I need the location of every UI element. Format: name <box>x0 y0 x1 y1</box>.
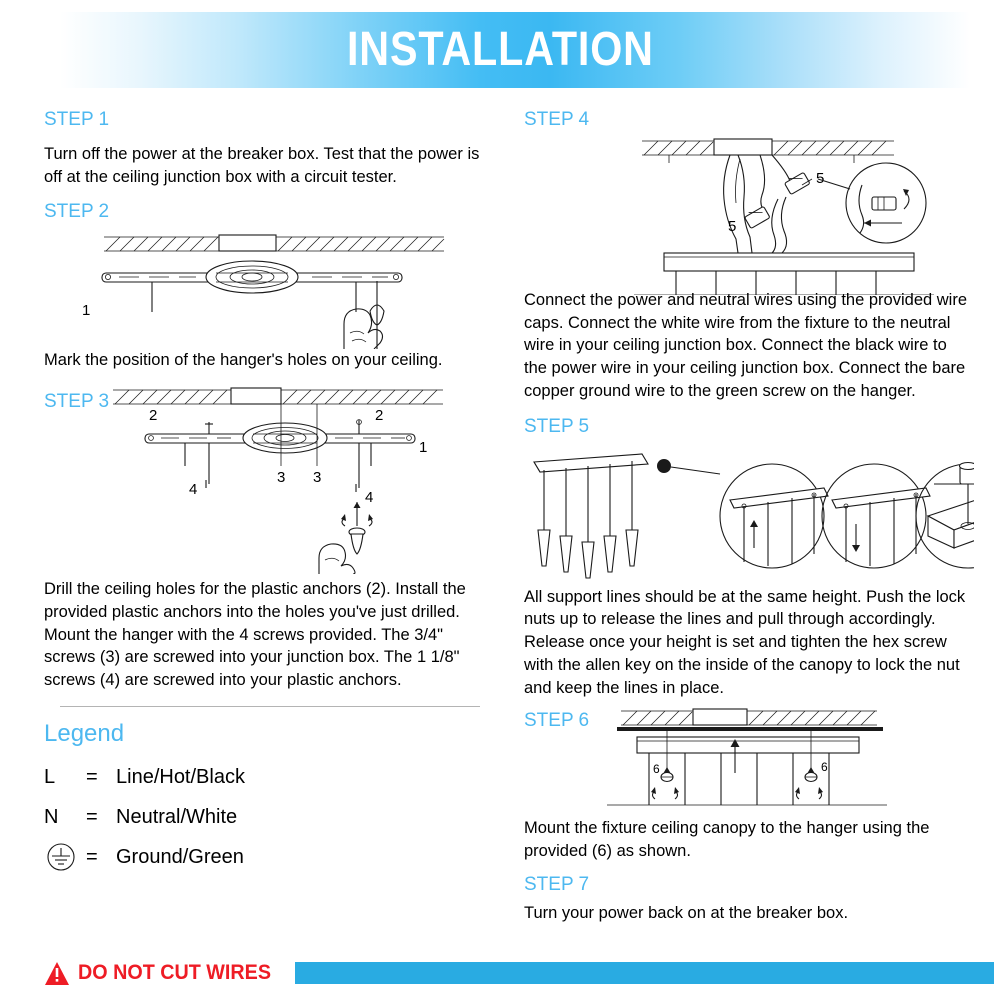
legend-symbol-L: L <box>44 766 86 789</box>
callout-2-left: 2 <box>149 407 157 424</box>
legend-row-ground: = Ground/Green <box>44 837 484 877</box>
wire-cap-detail-callout <box>818 163 926 243</box>
callout-6-right: 6 <box>821 760 828 774</box>
step-5-section: STEP 5 <box>524 417 974 700</box>
step-6-diagram: 6 6 <box>597 705 897 815</box>
callout-6-left: 6 <box>653 762 660 776</box>
step-7-heading: STEP 7 <box>524 875 974 896</box>
callout-2-right: 2 <box>375 407 383 424</box>
right-column: STEP 4 <box>524 110 974 925</box>
step-7-section: STEP 7 Turn your power back on at the br… <box>524 875 974 925</box>
step-2-diagram: 1 <box>44 229 484 349</box>
section-divider <box>60 706 480 707</box>
warning-text: DO NOT CUT WIRES <box>78 961 271 985</box>
warning-bar: DO NOT CUT WIRES <box>44 958 994 988</box>
pull-down-detail <box>822 464 930 568</box>
step-6-heading: STEP 6 <box>524 711 589 732</box>
allen-key-detail <box>916 462 974 568</box>
step-5-text: All support lines should be at the same … <box>524 586 974 700</box>
step-3-diagram: 2 2 1 3 3 4 4 <box>113 384 453 574</box>
warning-bar-fill <box>295 962 994 984</box>
screw-right-4 <box>356 420 361 492</box>
step-1-section: STEP 1 Turn off the power at the breaker… <box>44 110 484 188</box>
callout-4-right: 4 <box>365 489 373 506</box>
wire-to-cap-lower <box>760 155 768 215</box>
step-3-section: STEP 3 <box>44 384 484 692</box>
legend-heading: Legend <box>44 721 484 747</box>
legend-desc-neutral: Neutral/White <box>116 806 237 829</box>
callout-4-left: 4 <box>189 481 197 498</box>
hanger-center-plate <box>243 423 327 453</box>
legend-row-neutral: N = Neutral/White <box>44 797 484 837</box>
junction-box <box>714 139 772 155</box>
step-5-diagram <box>524 444 974 584</box>
ceiling-hatching <box>621 711 877 725</box>
legend-equals-0: = <box>86 766 116 789</box>
left-column: STEP 1 Turn off the power at the breaker… <box>44 110 484 877</box>
legend-equals-2: = <box>86 846 116 869</box>
legend-row-line: L = Line/Hot/Black <box>44 757 484 797</box>
ground-icon <box>44 840 86 874</box>
step-6-text: Mount the fixture ceiling canopy to the … <box>524 817 974 863</box>
hand-with-pencil <box>344 281 384 349</box>
fixture-canopy <box>607 737 887 805</box>
callout-5-lower: 5 <box>728 218 736 235</box>
callout-3-left: 3 <box>277 469 285 486</box>
screw-left-4 <box>205 422 213 488</box>
callout-1: 1 <box>82 302 90 319</box>
step-2-section: STEP 2 <box>44 202 484 372</box>
legend-desc-ground: Ground/Green <box>116 846 244 869</box>
step-5-heading: STEP 5 <box>524 417 974 438</box>
legend-equals-1: = <box>86 806 116 829</box>
step-7-text: Turn your power back on at the breaker b… <box>524 902 974 925</box>
warning-triangle-icon <box>44 961 70 986</box>
legend-symbol-N: N <box>44 806 86 829</box>
callout-1: 1 <box>419 439 427 456</box>
step-2-heading: STEP 2 <box>44 202 484 223</box>
detail-anchor-dot <box>657 459 671 473</box>
hanger-center-plate <box>206 261 298 293</box>
legend-desc-line: Line/Hot/Black <box>116 766 245 789</box>
wire-cap-lower <box>744 206 770 228</box>
hanger-plate <box>617 727 883 731</box>
step-4-section: STEP 4 <box>524 110 974 403</box>
page-title: INSTALLATION <box>347 26 654 74</box>
hand-with-screwdriver <box>319 502 373 574</box>
wire-bundle <box>724 155 752 253</box>
junction-box <box>219 235 276 251</box>
callout-3-right: 3 <box>313 469 321 486</box>
step-1-heading: STEP 1 <box>44 110 484 131</box>
push-up-detail <box>720 464 828 568</box>
step-1-text: Turn off the power at the breaker box. T… <box>44 143 484 189</box>
legend-section: Legend L = Line/Hot/Black N = Neutral/Wh… <box>44 721 484 877</box>
junction-box <box>231 388 281 404</box>
callout-5-upper: 5 <box>816 170 824 187</box>
step-3-text: Drill the ceiling holes for the plastic … <box>44 578 484 692</box>
wire-cap-upper <box>784 172 810 194</box>
step-4-text: Connect the power and neutral wires usin… <box>524 289 974 403</box>
step-3-heading: STEP 3 <box>44 392 109 413</box>
step-2-caption: Mark the position of the hanger's holes … <box>44 349 484 372</box>
junction-box <box>693 709 747 725</box>
wire-to-cap-upper <box>772 155 790 253</box>
step-6-section: STEP 6 <box>524 711 974 863</box>
header-banner: INSTALLATION <box>0 12 1000 88</box>
pendant-fixture <box>534 454 720 578</box>
step-4-diagram: 5 5 <box>524 115 974 295</box>
